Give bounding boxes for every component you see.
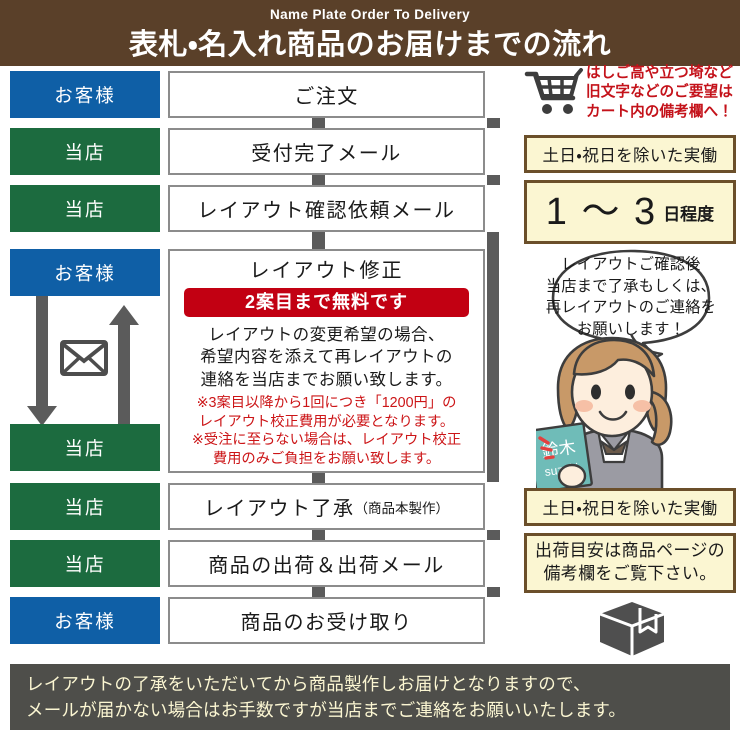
actor-badge-label: お客様 [54, 82, 116, 108]
revision-note-line: ※3案目以降から1回につき「1200円」の [170, 394, 483, 413]
layout-revision-box: レイアウト修正 2案目まで無料です レイアウトの変更希望の場合、 希望内容を添え… [168, 249, 485, 473]
revision-note-line: レイアウト校正費用が必要となります。 [170, 413, 483, 432]
connector-tab [312, 530, 325, 540]
connector-rail-right [487, 232, 499, 482]
revision-free-banner: 2案目まで無料です [184, 288, 469, 317]
actor-badge-label: 当店 [64, 551, 105, 577]
connector-tab [487, 118, 500, 128]
actor-badge-label: 当店 [64, 435, 105, 461]
revision-note: ※3案目以降から1回につき「1200円」の レイアウト校正費用が必要となります。… [170, 394, 483, 468]
bubble-line: 当店まで了承もしくは、 [531, 276, 731, 298]
bubble-line: レイアウトご確認後 [531, 254, 731, 276]
connector-tab [312, 587, 325, 597]
flow-step-order: ご注文 [168, 71, 485, 118]
connector-tab [487, 587, 500, 597]
lead-time-value-box: 1 ～ 3 日程度 [524, 180, 736, 244]
flow-step-shipping-mail: 商品の出荷＆出荷メール [168, 540, 485, 587]
flow-step-layout-confirm-mail: レイアウト確認依頼メール [168, 185, 485, 232]
cart-remark-line: 旧文字などのご要望は [586, 83, 736, 102]
actor-badge-customer-2: お客様 [10, 249, 160, 296]
cart-remark-line: カート内の備考欄へ！ [586, 103, 736, 122]
cart-remark-line: はしご高や立つ埼など [586, 64, 736, 83]
page-footer: レイアウトの了承をいただいてから商品製作しお届けとなりますので、 メールが届かな… [10, 664, 730, 730]
package-box-icon [596, 598, 668, 660]
connector-tab [312, 175, 325, 185]
flow-step-sublabel: （商品本製作） [355, 497, 450, 517]
actor-badge-shop-2: 当店 [10, 185, 160, 232]
ship-note-line: 出荷目安は商品ページの [535, 540, 725, 563]
actor-badge-customer-3: お客様 [10, 597, 160, 644]
cart-remark-callout: はしご高や立つ埼など 旧文字などのご要望は カート内の備考欄へ！ [524, 64, 736, 122]
ship-time-caption-box: 土日・祝日を除いた実働 [524, 488, 736, 526]
lead-time-caption-label: 土日・祝日を除いた実働 [542, 142, 717, 166]
actor-badge-shop-1: 当店 [10, 128, 160, 175]
footer-line-2: メールが届かない場合はお手数ですが当店までご連絡をお願いいたします。 [26, 697, 730, 723]
page-title: 表札・名入れ商品のお届けまでの流れ [0, 22, 740, 60]
flow-step-label: 受付完了メール [251, 137, 402, 166]
actor-badge-label: 当店 [64, 139, 105, 165]
actor-badge-shop-3: 当店 [10, 424, 160, 471]
revision-title: レイアウト修正 [170, 260, 483, 282]
actor-badge-label: お客様 [54, 260, 116, 286]
connector-tab [312, 232, 325, 250]
revision-note-line: 費用のみご負担をお願い致します。 [170, 450, 483, 469]
revision-body: レイアウトの変更希望の場合、 希望内容を添えて再レイアウトの 連絡を当店までお願… [170, 324, 483, 391]
actor-badge-label: お客様 [54, 608, 116, 634]
connector-tab [312, 473, 325, 483]
page-header: Name Plate Order To Delivery 表札・名入れ商品のお届… [0, 0, 740, 66]
footer-line-1: レイアウトの了承をいただいてから商品製作しお届けとなりますので、 [26, 671, 730, 697]
revision-body-line: 連絡を当店までお願い致します。 [170, 369, 483, 391]
loop-arrow-up-shaft [118, 323, 130, 432]
lead-time-value: 1 ～ 3 [546, 193, 657, 231]
flow-step-receipt-mail: 受付完了メール [168, 128, 485, 175]
cart-remark-text: はしご高や立つ埼など 旧文字などのご要望は カート内の備考欄へ！ [586, 64, 736, 122]
connector-tab [487, 175, 500, 185]
revision-body-line: レイアウトの変更希望の場合、 [170, 324, 483, 346]
lead-time-caption-box: 土日・祝日を除いた実働 [524, 135, 736, 173]
header-eyebrow: Name Plate Order To Delivery [0, 0, 740, 22]
arrow-down-icon [27, 406, 57, 426]
flow-step-receive-product: 商品のお受け取り [168, 597, 485, 644]
ship-note-line: 備考欄をご覧下さい。 [535, 563, 725, 586]
actor-badge-shop-4: 当店 [10, 483, 160, 530]
actor-badge-label: 当店 [64, 196, 105, 222]
connector-tab [487, 530, 500, 540]
envelope-icon [60, 340, 108, 376]
arrow-up-icon [109, 305, 139, 325]
revision-body-line: 希望内容を添えて再レイアウトの [170, 346, 483, 368]
connector-tab [312, 118, 325, 128]
flow-step-label: 商品のお受け取り [241, 606, 413, 635]
bubble-line: 再レイアウトのご連絡を [531, 297, 731, 319]
ship-note-box: 出荷目安は商品ページの 備考欄をご覧下さい。 [524, 533, 736, 593]
flow-step-label: レイアウト確認依頼メール [198, 194, 456, 223]
shopping-cart-icon [524, 68, 584, 118]
flow-step-label: 商品の出荷＆出荷メール [208, 549, 445, 578]
flow-diagram-page: Name Plate Order To Delivery 表札・名入れ商品のお届… [0, 0, 740, 740]
flow-step-label: レイアウト了承 [204, 492, 355, 521]
staff-woman-illustration: 鈴木 suzuki [536, 330, 731, 490]
actor-badge-shop-5: 当店 [10, 540, 160, 587]
revision-note-line: ※受注に至らない場合は、レイアウト校正 [170, 431, 483, 450]
flow-step-label: ご注文 [294, 80, 359, 109]
flow-step-layout-approved: レイアウト了承 （商品本製作） [168, 483, 485, 530]
loop-arrow-down-shaft [36, 296, 48, 410]
staff-speech-text: レイアウトご確認後 当店まで了承もしくは、 再レイアウトのご連絡を お願いします… [531, 254, 731, 340]
ship-time-caption-label: 土日・祝日を除いた実働 [542, 495, 717, 519]
actor-badge-label: 当店 [64, 494, 105, 520]
lead-time-unit: 日程度 [663, 200, 714, 225]
actor-badge-customer-1: お客様 [10, 71, 160, 118]
